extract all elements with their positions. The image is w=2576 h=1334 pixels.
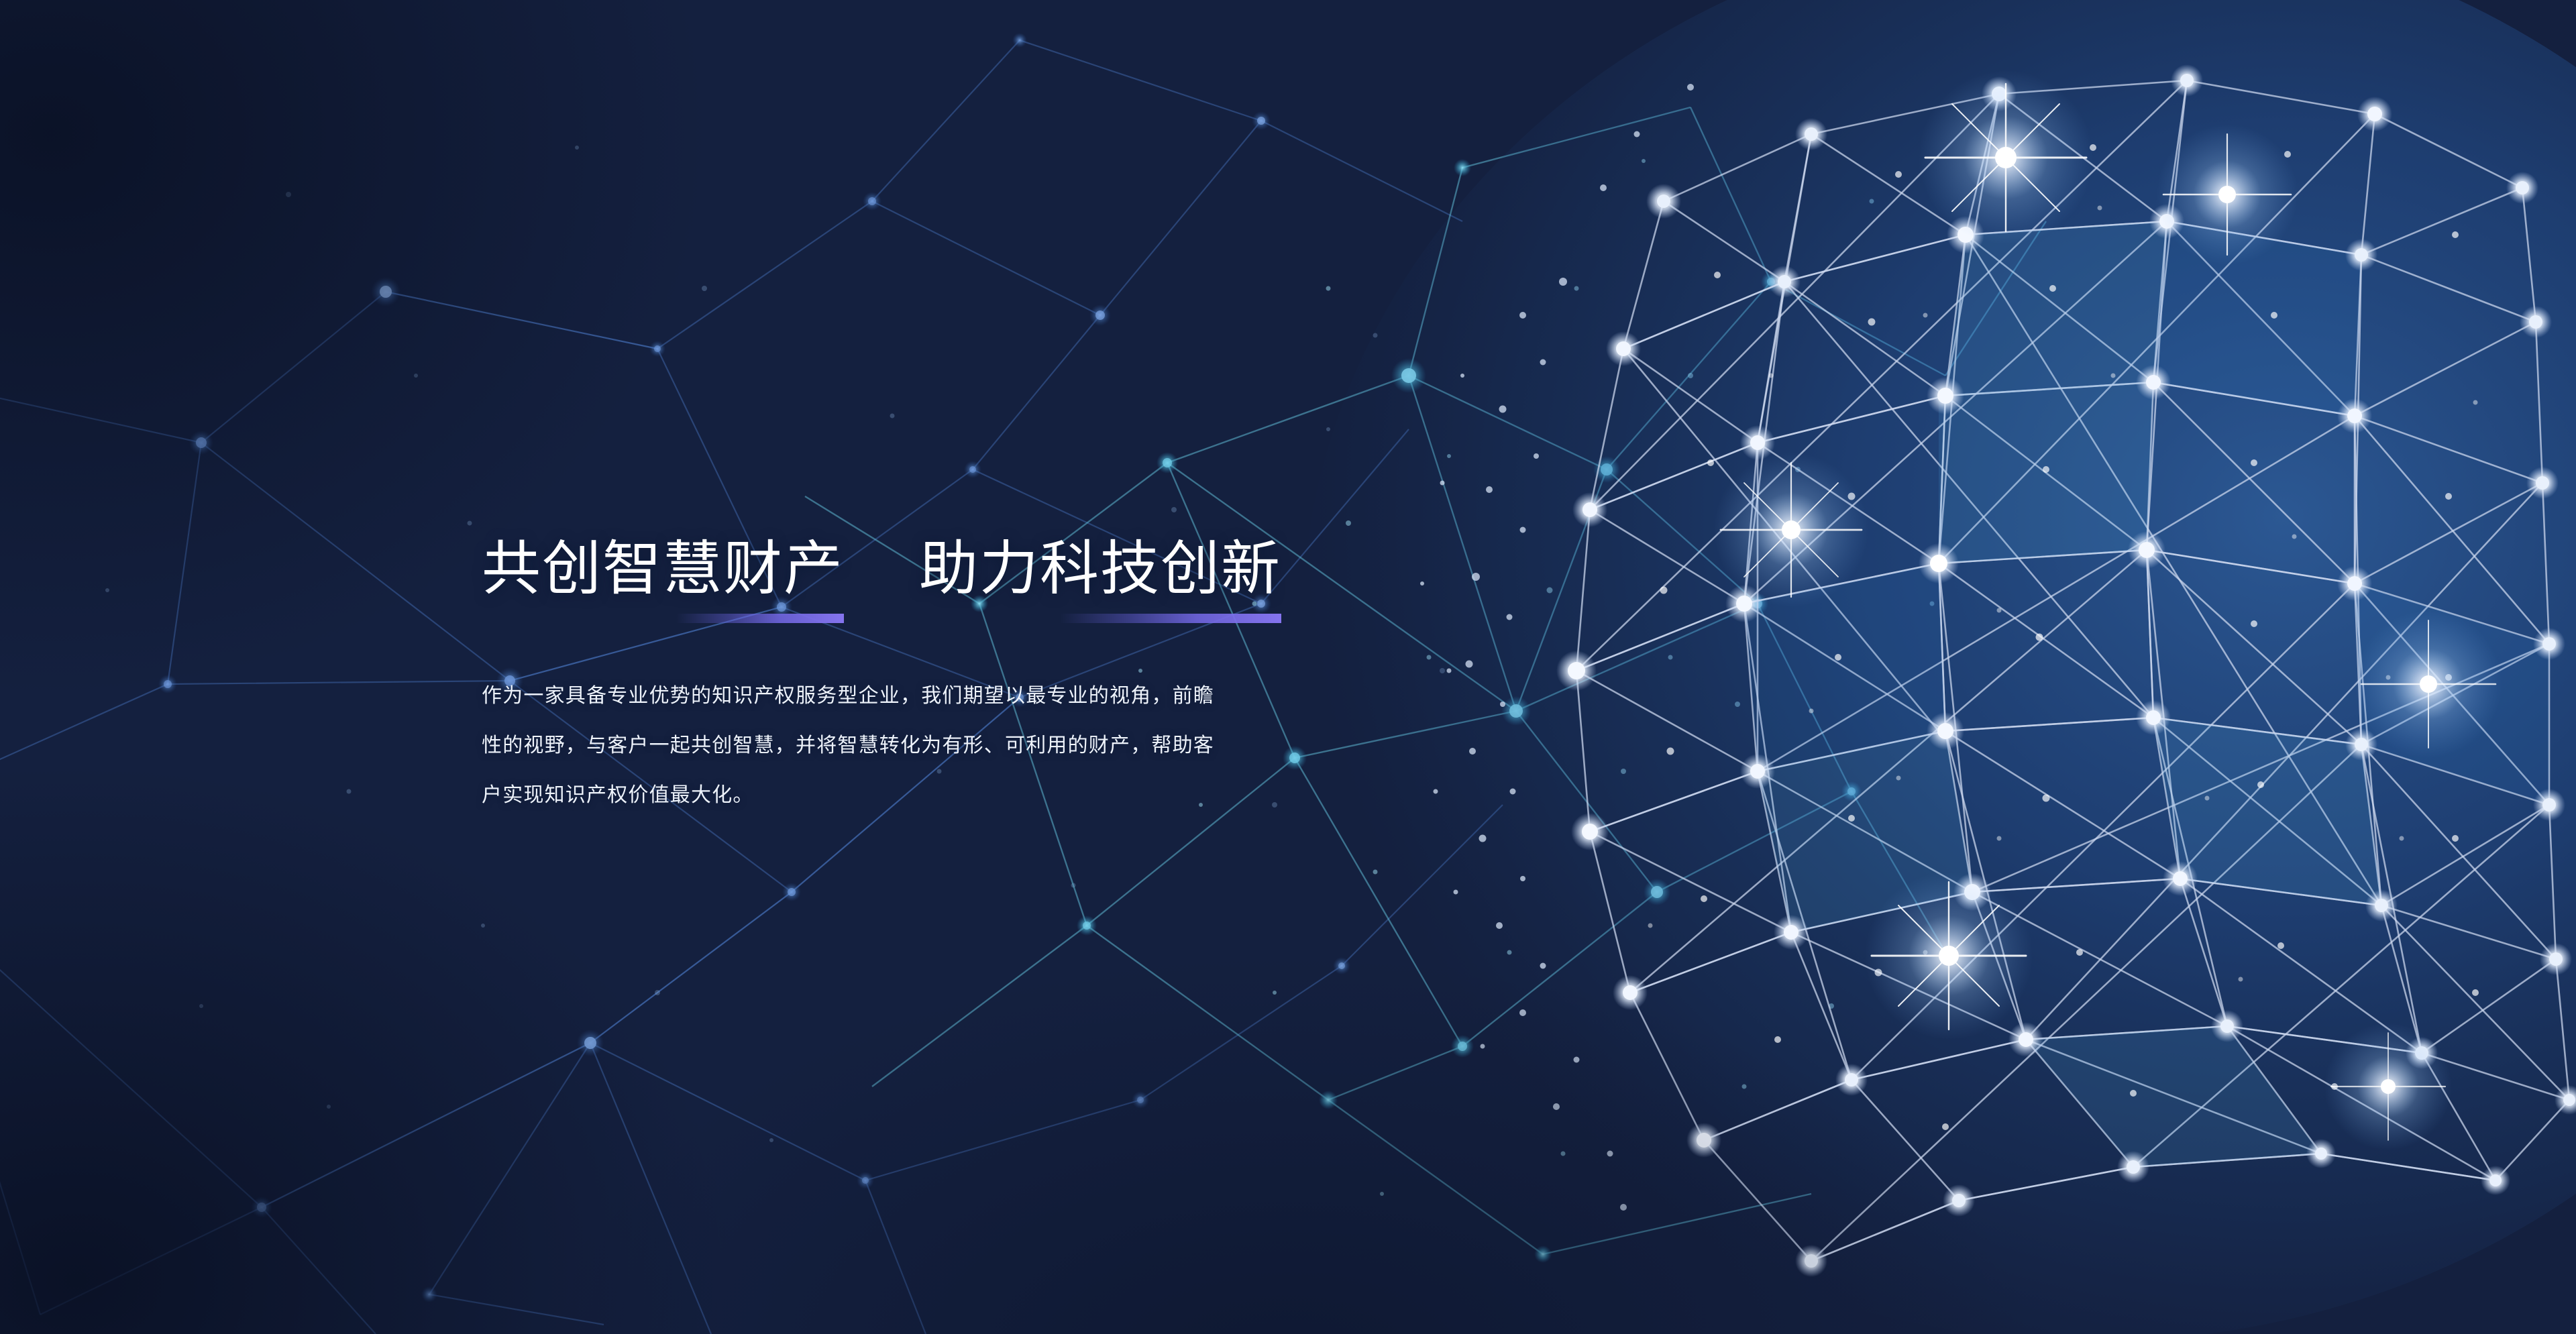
description-line: 作为一家具备专业优势的知识产权服务型企业，我们期望以最专业的视角，前瞻 xyxy=(482,671,1253,721)
hero-banner: 共创智慧财产 助力科技创新 作为一家具备专业优势的知识产权服务型企业，我们期望以… xyxy=(0,0,2576,1334)
hero-content: 共创智慧财产 助力科技创新 作为一家具备专业优势的知识产权服务型企业，我们期望以… xyxy=(482,537,1488,820)
headline-segment-2: 助力科技创新 xyxy=(919,537,1281,600)
hero-description: 作为一家具备专业优势的知识产权服务型企业，我们期望以最专业的视角，前瞻 性的视野… xyxy=(482,671,1253,820)
headline-underline-2 xyxy=(1060,614,1281,623)
headline-text-2: 助力科技创新 xyxy=(919,537,1281,600)
page-title: 共创智慧财产 助力科技创新 xyxy=(482,537,1488,600)
headline-underline-1 xyxy=(676,614,844,623)
headline-text-1: 共创智慧财产 xyxy=(482,537,844,600)
description-line: 性的视野，与客户一起共创智慧，并将智慧转化为有形、可利用的财产，帮助客 xyxy=(482,721,1253,771)
description-line: 户实现知识产权价值最大化。 xyxy=(482,771,1253,820)
headline-segment-1: 共创智慧财产 xyxy=(482,537,844,600)
